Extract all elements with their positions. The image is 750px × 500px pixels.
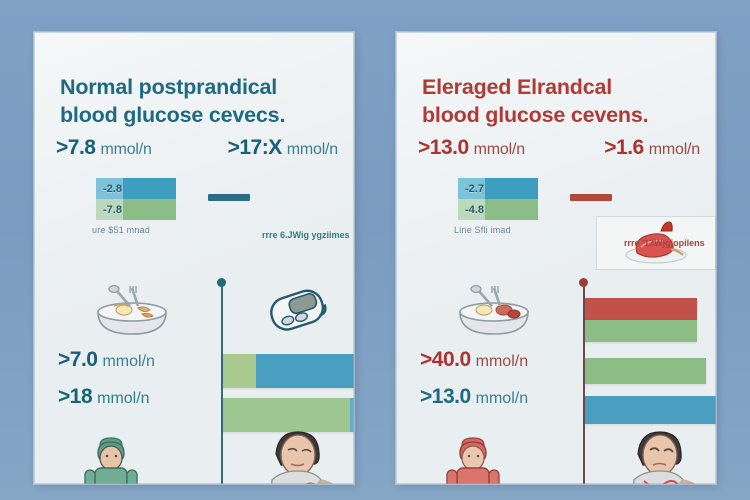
value-number: >7.8: [56, 136, 95, 159]
bowl-of-food-icon: [80, 284, 184, 340]
value-unit: mmol/n: [102, 353, 154, 370]
value-number: >13.0: [418, 136, 469, 159]
panel-normal: Normal postprandical blood glucose cevec…: [34, 32, 354, 484]
mini-stacked-chart-elevated: -2.7 -4.8: [458, 178, 538, 220]
value-primary: >13.0mmol/n: [418, 136, 525, 160]
bar-segment-blue: [350, 398, 354, 432]
table-row: [585, 358, 706, 384]
mini-chart-green-label: -7.8: [96, 204, 122, 216]
mini-chart-segment-green: -7.8: [96, 199, 176, 220]
mini-chart-blue-label: -2.8: [96, 183, 122, 195]
table-row: [223, 354, 354, 388]
value-unit: mmol/n: [97, 390, 149, 407]
mini-chart-segment-blue: -2.7: [458, 178, 538, 199]
value-unit: mmol/n: [476, 390, 528, 407]
mini-chart-segment-blue: -2.8: [96, 178, 176, 199]
value-unit: mmol/n: [476, 353, 528, 370]
bowl-of-food-icon: [442, 284, 546, 340]
bar-segment-green: [223, 354, 256, 388]
value-unit: mmol/n: [100, 141, 151, 158]
mini-chart-blue-label: -2.7: [458, 183, 484, 195]
bar-segment-green: [223, 398, 350, 432]
bar-chart-elevated: [585, 32, 716, 484]
mini-chart-caption: ure $51 mnad: [92, 225, 150, 235]
table-row: [223, 398, 354, 432]
infographic-stage: Normal postprandical blood glucose cevec…: [0, 0, 750, 500]
value-primary: >7.8mmol/n: [56, 136, 152, 160]
value-number: >18: [58, 385, 92, 408]
value-number: >13.0: [420, 385, 471, 408]
lower-value-list-normal: >7.0mmol/n >18mmol/n: [58, 348, 218, 422]
patient-holding-meter-icon: [248, 428, 352, 484]
heading-line-1: Eleraged Elrandcal: [422, 75, 612, 99]
mini-chart-green-label: -4.8: [458, 204, 484, 216]
value-number: >7.0: [58, 348, 97, 371]
bar-segment-blue: [256, 354, 354, 388]
table-row: [585, 298, 697, 320]
list-item: >40.0mmol/n: [420, 348, 580, 372]
mini-chart-segment-green: -4.8: [458, 199, 538, 220]
bar-chart-normal: [223, 32, 354, 484]
panel-elevated: Eleraged Elrandcal blood glucose cevens.…: [396, 32, 716, 484]
value-unit: mmol/n: [474, 141, 525, 158]
patient-holding-meter-icon: [610, 428, 714, 484]
value-number: >40.0: [420, 348, 471, 371]
list-item: >18mmol/n: [58, 385, 218, 409]
list-item: >7.0mmol/n: [58, 348, 218, 372]
table-row: [585, 396, 716, 424]
lower-value-list-elevated: >40.0mmol/n >13.0mmol/n: [420, 348, 580, 422]
standing-person-icon: [442, 436, 504, 484]
mini-stacked-chart-normal: -2.8 -7.8: [96, 178, 176, 220]
table-row: [585, 320, 697, 342]
standing-person-icon: [80, 436, 142, 484]
list-item: >13.0mmol/n: [420, 385, 580, 409]
mini-chart-caption: Line Sfli imad: [454, 225, 511, 235]
